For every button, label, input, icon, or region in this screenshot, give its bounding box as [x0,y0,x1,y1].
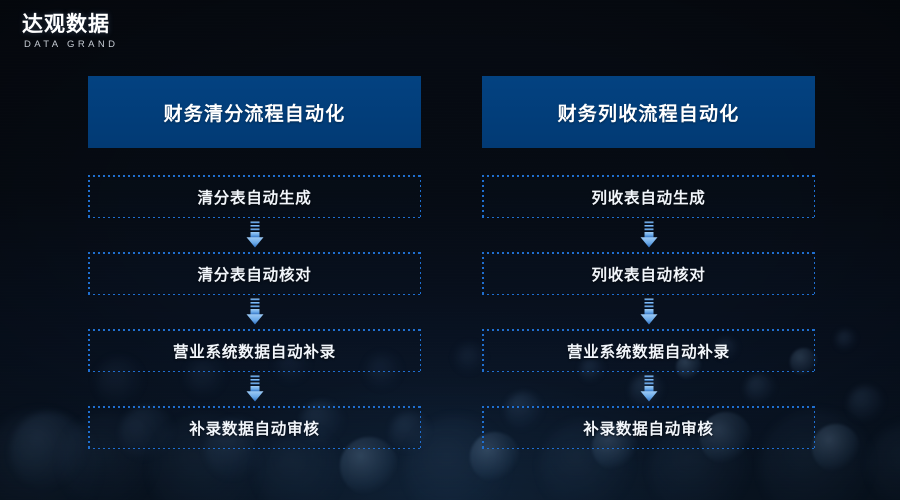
step-box-left-3[interactable]: 营业系统数据自动补录 [88,329,421,372]
steps-list-left: 清分表自动生成 [88,175,421,449]
step-box-left-4[interactable]: 补录数据自动审核 [88,406,421,449]
connector-left-3 [88,372,421,406]
arrow-down-icon [245,375,265,403]
step-label: 营业系统数据自动补录 [173,340,336,362]
step-label: 列收表自动核对 [591,263,705,285]
step-box-right-2[interactable]: 列收表自动核对 [482,252,815,295]
connector-right-2 [482,295,815,329]
connector-left-2 [88,295,421,329]
flow-columns: 财务清分流程自动化 清分表自动生成 [0,0,900,500]
step-box-right-3[interactable]: 营业系统数据自动补录 [482,329,815,372]
arrow-down-icon [245,221,265,249]
connector-right-1 [482,218,815,252]
step-label: 营业系统数据自动补录 [567,340,730,362]
flow-column-left: 财务清分流程自动化 清分表自动生成 [88,76,421,449]
column-header-right: 财务列收流程自动化 [482,76,815,148]
arrow-down-icon [639,221,659,249]
step-label: 清分表自动生成 [197,186,311,208]
connector-left-1 [88,218,421,252]
step-box-right-4[interactable]: 补录数据自动审核 [482,406,815,449]
step-box-right-1[interactable]: 列收表自动生成 [482,175,815,218]
flow-column-right: 财务列收流程自动化 列收表自动生成 列收表自动核对 [482,76,815,449]
steps-list-right: 列收表自动生成 列收表自动核对 [482,175,815,449]
connector-right-3 [482,372,815,406]
step-label: 补录数据自动审核 [189,417,319,439]
step-label: 列收表自动生成 [591,186,705,208]
step-box-left-1[interactable]: 清分表自动生成 [88,175,421,218]
arrow-down-icon [639,298,659,326]
step-label: 清分表自动核对 [197,263,311,285]
column-header-left: 财务清分流程自动化 [88,76,421,148]
step-label: 补录数据自动审核 [583,417,713,439]
arrow-down-icon [245,298,265,326]
slide-root: 达观数据 DATA GRAND 财务清分流程自动化 清分表自动生成 [0,0,900,500]
arrow-down-icon [639,375,659,403]
step-box-left-2[interactable]: 清分表自动核对 [88,252,421,295]
